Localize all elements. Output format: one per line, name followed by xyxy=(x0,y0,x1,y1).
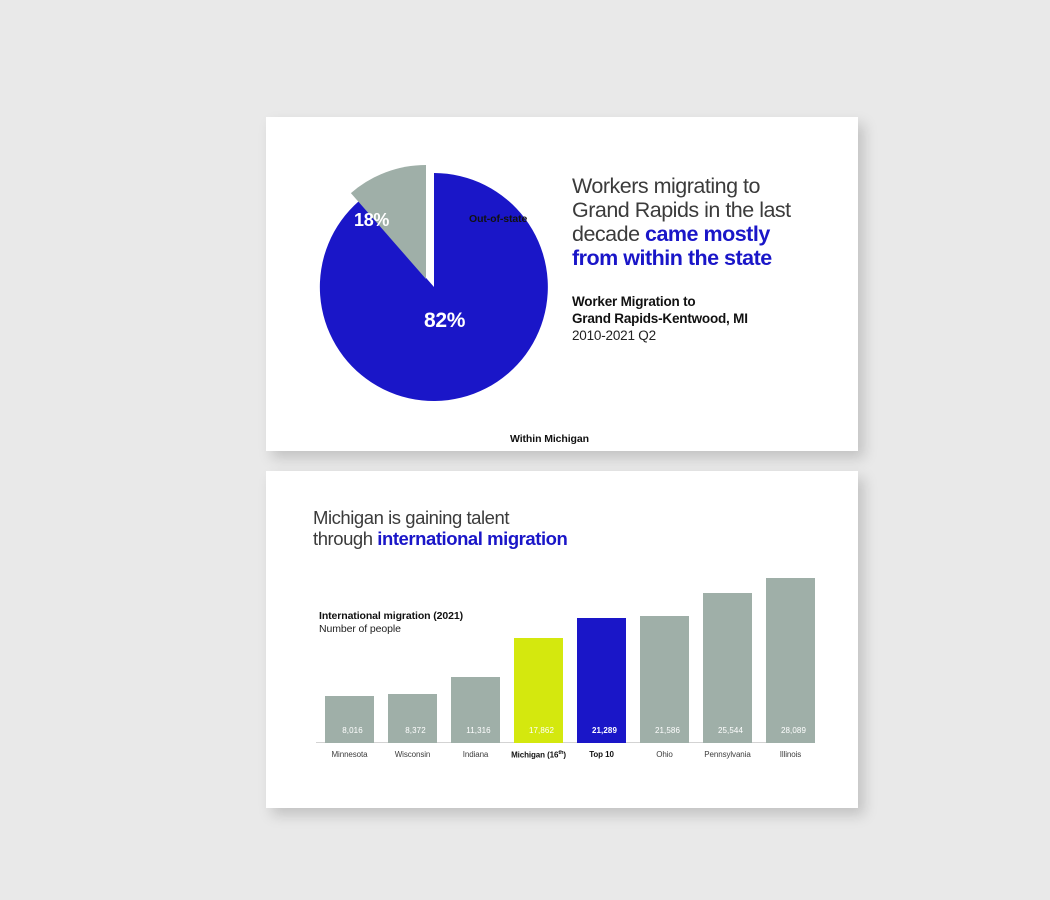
pie-label-out-of-state: Out-of-state xyxy=(469,213,527,225)
bar-category-label: Ohio xyxy=(631,750,698,759)
bars-headline-accent: international migration xyxy=(377,528,567,549)
pie-chart[interactable]: 82% 18% Out-of-state Within Michigan xyxy=(306,157,556,407)
pie-source-block: Worker Migration to Grand Rapids-Kentwoo… xyxy=(572,294,836,344)
pie-slide-text-block: Workers migrating to Grand Rapids in the… xyxy=(572,174,836,344)
legend-units: Number of people xyxy=(319,623,463,636)
bar-indiana[interactable]: 11,316 xyxy=(451,677,500,743)
legend-title: International migration (2021) xyxy=(319,610,463,623)
pie-headline: Workers migrating to Grand Rapids in the… xyxy=(572,174,836,270)
bar-minnesota[interactable]: 8,016 xyxy=(325,696,374,743)
bar-michigan-16th[interactable]: 17,862 xyxy=(514,638,563,743)
bar-chart[interactable]: MinnesotaWisconsinIndianaMichigan (16th)… xyxy=(316,566,816,776)
bars-headline-line-2: through xyxy=(313,528,377,549)
bar-slot[interactable]: 17,862 xyxy=(511,638,566,743)
bar-category-label: Wisconsin xyxy=(379,750,446,759)
bar-slot[interactable]: 21,289 xyxy=(574,618,629,743)
bar-pennsylvania[interactable]: 25,544 xyxy=(703,593,752,743)
slide-card-bars[interactable]: Michigan is gaining talent through inter… xyxy=(266,471,858,808)
bar-value-label: 8,372 xyxy=(388,726,443,735)
bar-ohio[interactable]: 21,586 xyxy=(640,616,689,743)
bar-value-label: 17,862 xyxy=(514,726,569,735)
bar-top-10[interactable]: 21,289 xyxy=(577,618,626,743)
pie-label-within-michigan: Within Michigan xyxy=(510,433,589,445)
bars-legend: International migration (2021) Number of… xyxy=(319,610,463,636)
bar-wisconsin[interactable]: 8,372 xyxy=(388,694,437,743)
pie-slice-within-michigan[interactable] xyxy=(320,173,548,401)
bar-category-label: Pennsylvania xyxy=(694,750,761,759)
bar-slot[interactable]: 28,089 xyxy=(763,578,818,743)
bar-illinois[interactable]: 28,089 xyxy=(766,578,815,743)
bars-headline: Michigan is gaining talent through inter… xyxy=(313,507,567,549)
headline-line-1: Workers migrating to xyxy=(572,174,760,198)
headline-accent-1: came mostly xyxy=(645,222,770,246)
bar-category-label: Indiana xyxy=(442,750,509,759)
bar-slot[interactable]: 21,586 xyxy=(637,616,692,743)
bar-slot[interactable]: 8,016 xyxy=(322,696,377,743)
pie-chart-svg xyxy=(306,157,556,407)
bar-value-label: 11,316 xyxy=(451,726,506,735)
headline-accent-2: from within the state xyxy=(572,246,772,270)
bar-value-label: 25,544 xyxy=(703,726,758,735)
bar-slot[interactable]: 25,544 xyxy=(700,593,755,743)
bar-value-label: 28,089 xyxy=(766,726,821,735)
pie-source-line-2: Grand Rapids-Kentwood, MI xyxy=(572,311,836,328)
bar-slot[interactable]: 11,316 xyxy=(448,677,503,743)
bars-headline-line-1: Michigan is gaining talent xyxy=(313,507,509,528)
bar-category-label: Top 10 xyxy=(568,750,635,759)
pie-source-line-3: 2010-2021 Q2 xyxy=(572,327,836,344)
bar-value-label: 21,586 xyxy=(640,726,695,735)
headline-line-3: decade xyxy=(572,222,645,246)
headline-line-2: Grand Rapids in the last xyxy=(572,198,791,222)
bar-value-label: 21,289 xyxy=(577,726,632,735)
bar-value-label: 8,016 xyxy=(325,726,380,735)
bar-slot[interactable]: 8,372 xyxy=(385,694,440,743)
bar-category-label: Michigan (16th) xyxy=(505,750,572,760)
bar-chart-category-axis: MinnesotaWisconsinIndianaMichigan (16th)… xyxy=(316,743,816,776)
slide-card-pie[interactable]: 82% 18% Out-of-state Within Michigan Wor… xyxy=(266,117,858,451)
pie-source-line-1: Worker Migration to xyxy=(572,294,836,311)
bar-category-label: Minnesota xyxy=(316,750,383,759)
bar-category-label: Illinois xyxy=(757,750,824,759)
slide-deck-canvas: 82% 18% Out-of-state Within Michigan Wor… xyxy=(0,0,1050,900)
